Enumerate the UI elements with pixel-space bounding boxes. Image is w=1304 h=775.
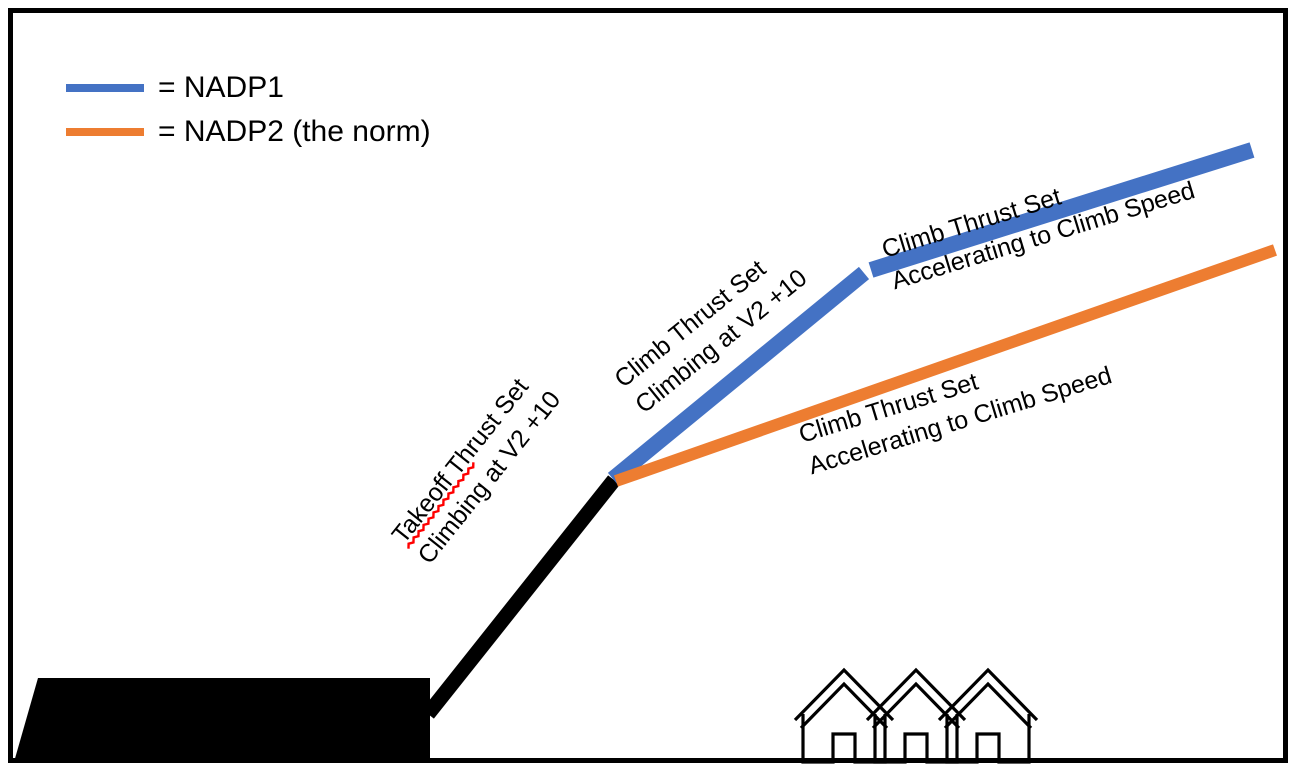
legend-item-nadp1: = NADP1 xyxy=(66,66,586,110)
houses-group xyxy=(795,670,1037,762)
diagram-canvas: = NADP1 = NADP2 (the norm) Takeoff Thrus… xyxy=(0,0,1304,775)
legend: = NADP1 = NADP2 (the norm) xyxy=(66,66,586,154)
runway-parallelogram xyxy=(14,678,430,762)
legend-label-nadp2: = NADP2 (the norm) xyxy=(158,117,431,147)
legend-swatch-nadp1 xyxy=(66,84,144,92)
house xyxy=(795,670,893,762)
legend-item-nadp2: = NADP2 (the norm) xyxy=(66,110,586,154)
house xyxy=(867,670,965,762)
legend-label-nadp1: = NADP1 xyxy=(158,73,284,103)
house xyxy=(939,670,1037,762)
legend-swatch-nadp2 xyxy=(66,128,144,136)
